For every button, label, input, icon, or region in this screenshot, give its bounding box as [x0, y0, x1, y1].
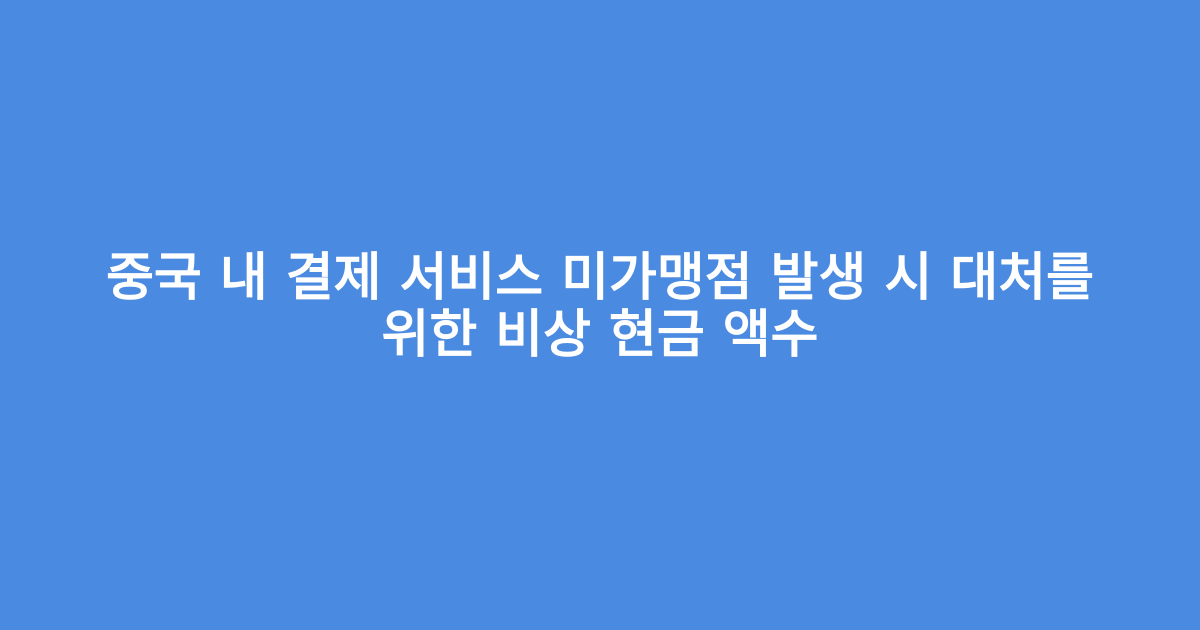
page-title: 중국 내 결제 서비스 미가맹점 발생 시 대처를 위한 비상 현금 액수	[55, 250, 1145, 364]
headline-container: 중국 내 결제 서비스 미가맹점 발생 시 대처를 위한 비상 현금 액수	[55, 250, 1145, 364]
social-card: 중국 내 결제 서비스 미가맹점 발생 시 대처를 위한 비상 현금 액수	[0, 0, 1200, 630]
